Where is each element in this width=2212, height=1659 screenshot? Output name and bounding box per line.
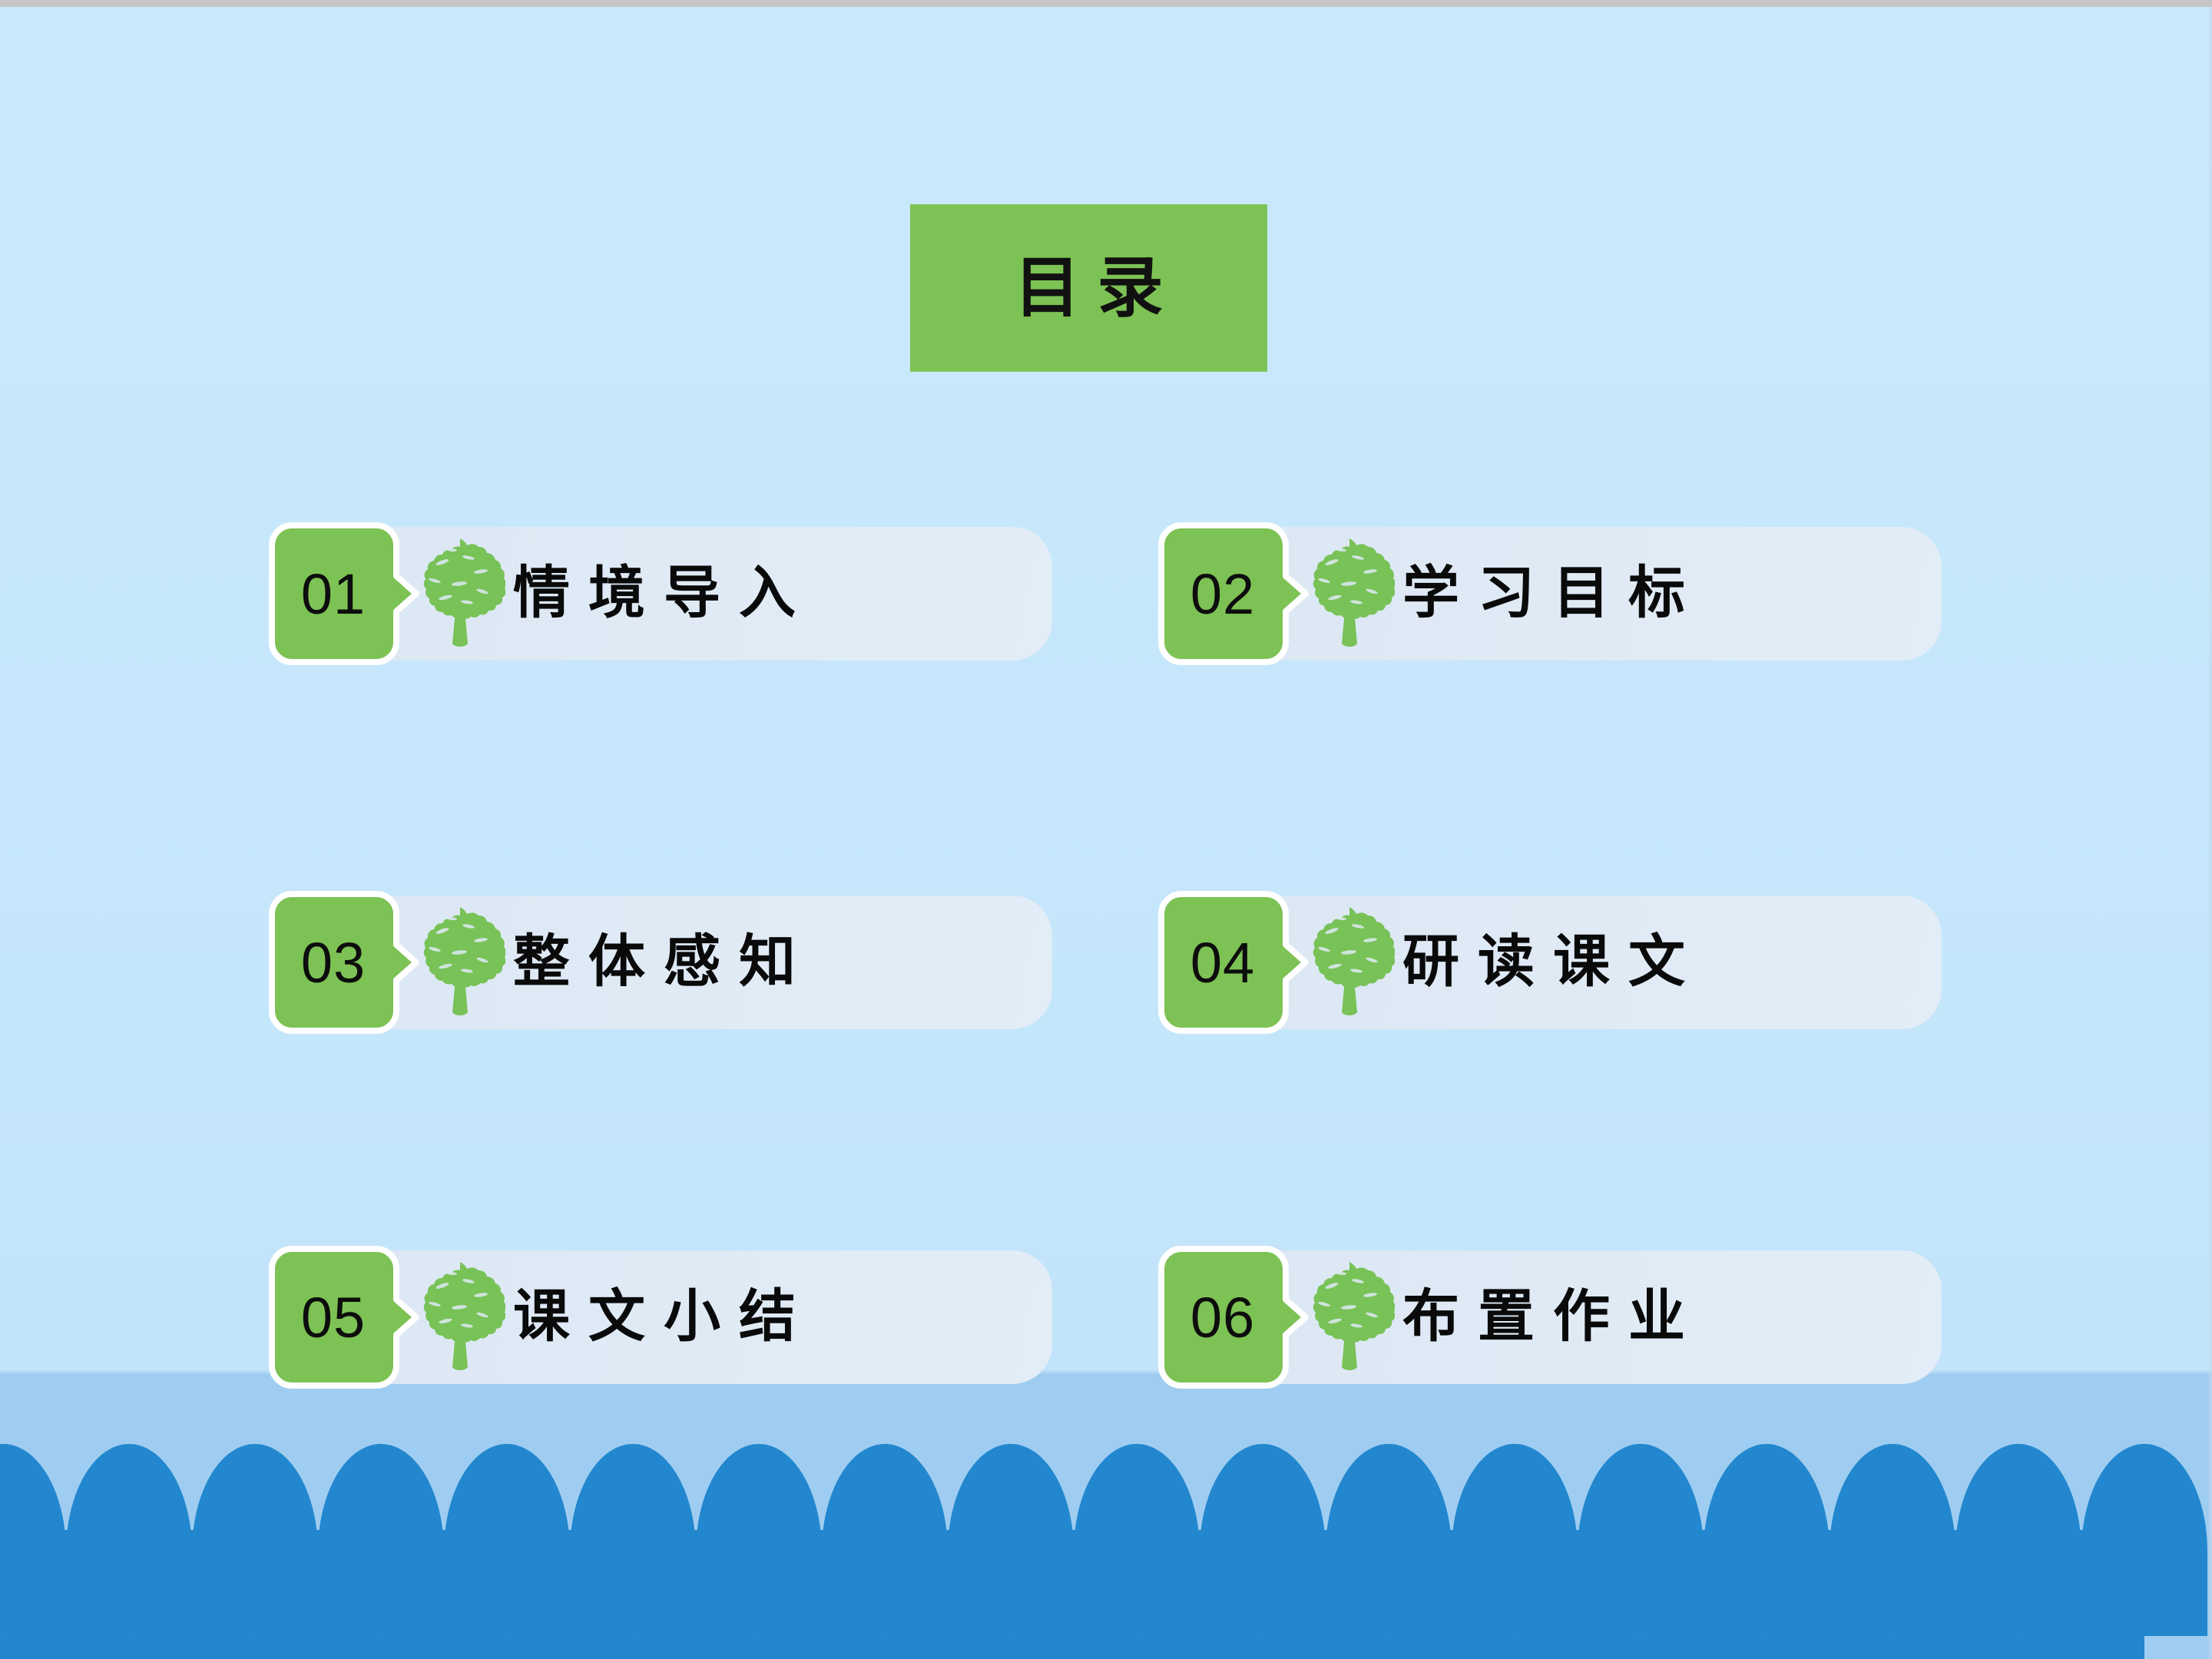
toc-number-badge[interactable]: 05: [269, 1246, 419, 1389]
toc-number-badge[interactable]: 02: [1158, 522, 1309, 665]
toc-number-badge[interactable]: 04: [1158, 891, 1309, 1034]
toc-number: 04: [1158, 891, 1287, 1034]
toc-number: 01: [269, 522, 398, 665]
table-of-contents: 01 情境导入 02 学习目标 03: [0, 0, 2212, 1659]
toc-item-label: 整体感知: [513, 891, 814, 1034]
toc-item-05[interactable]: 05 课文小结: [269, 1246, 1052, 1389]
tree-icon: [415, 1260, 505, 1379]
toc-item-03[interactable]: 03 整体感知: [269, 891, 1052, 1034]
toc-number: 05: [269, 1246, 398, 1389]
toc-item-label: 情境导入: [513, 522, 814, 665]
toc-item-01[interactable]: 01 情境导入: [269, 522, 1052, 665]
toc-item-label: 研读课文: [1402, 891, 1704, 1034]
slide-canvas: 目录 01 情境导入 02 学习目标 03: [0, 0, 2212, 1659]
toc-item-label: 课文小结: [513, 1246, 814, 1389]
toc-number-badge[interactable]: 01: [269, 522, 419, 665]
toc-item-02[interactable]: 02 学习目标: [1158, 522, 1942, 665]
right-edge-strip: [2209, 7, 2212, 1659]
tree-icon: [1304, 536, 1395, 656]
toc-item-label: 学习目标: [1402, 522, 1704, 665]
tree-icon: [1304, 905, 1395, 1025]
top-chrome-strip: [0, 0, 2212, 7]
toc-number: 06: [1158, 1246, 1287, 1389]
tree-icon: [1304, 1260, 1395, 1379]
toc-number: 03: [269, 891, 398, 1034]
toc-item-06[interactable]: 06 布置作业: [1158, 1246, 1942, 1389]
toc-number-badge[interactable]: 03: [269, 891, 419, 1034]
tree-icon: [415, 536, 505, 656]
toc-item-label: 布置作业: [1402, 1246, 1704, 1389]
toc-number-badge[interactable]: 06: [1158, 1246, 1309, 1389]
tree-icon: [415, 905, 505, 1025]
toc-item-04[interactable]: 04 研读课文: [1158, 891, 1942, 1034]
toc-number: 02: [1158, 522, 1287, 665]
